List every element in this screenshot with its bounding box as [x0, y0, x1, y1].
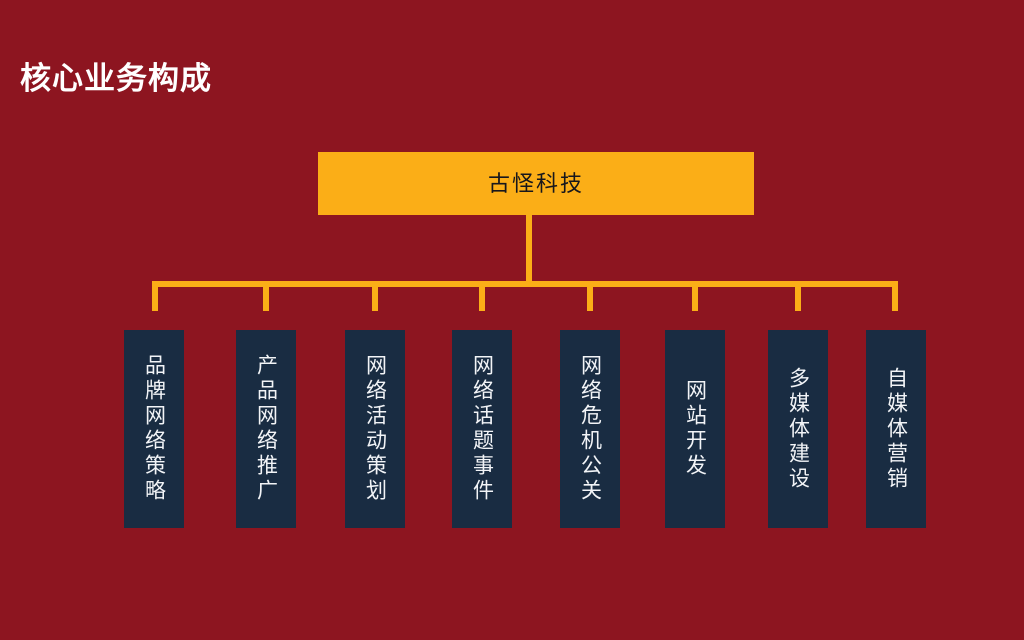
org-leaf-node-8[interactable]: 自媒体营销 — [866, 330, 926, 528]
org-leaf-node-label-3: 网络活动策划 — [365, 354, 386, 504]
org-leaf-node-6[interactable]: 网站开发 — [665, 330, 725, 528]
org-leaf-node-2[interactable]: 产品网络推广 — [236, 330, 296, 528]
connector-drop-8 — [892, 281, 898, 311]
connector-drop-2 — [263, 281, 269, 311]
connector-drop-7 — [795, 281, 801, 311]
connector-drop-5 — [587, 281, 593, 311]
org-leaf-node-4[interactable]: 网络话题事件 — [452, 330, 512, 528]
org-leaf-node-label-2: 产品网络推广 — [256, 354, 277, 504]
connector-drop-3 — [372, 281, 378, 311]
connector-trunk-vertical — [526, 215, 532, 281]
org-leaf-node-label-8: 自媒体营销 — [886, 367, 907, 492]
org-leaf-node-1[interactable]: 品牌网络策略 — [124, 330, 184, 528]
org-leaf-node-label-4: 网络话题事件 — [472, 354, 493, 504]
page-title: 核心业务构成 — [20, 62, 212, 96]
org-leaf-node-label-7: 多媒体建设 — [788, 367, 809, 492]
connector-drop-6 — [692, 281, 698, 311]
connector-drop-4 — [479, 281, 485, 311]
org-root-node-label: 古怪科技 — [488, 173, 584, 195]
slide-canvas: 核心业务构成 古怪科技 品牌网络策略 产品网络推广 网络活动策划 网络话题事件 … — [0, 0, 1024, 640]
org-leaf-node-7[interactable]: 多媒体建设 — [768, 330, 828, 528]
org-leaf-node-label-1: 品牌网络策略 — [144, 354, 165, 504]
org-root-node[interactable]: 古怪科技 — [318, 152, 754, 215]
org-leaf-node-label-5: 网络危机公关 — [580, 354, 601, 504]
org-leaf-node-5[interactable]: 网络危机公关 — [560, 330, 620, 528]
org-leaf-node-3[interactable]: 网络活动策划 — [345, 330, 405, 528]
connector-drop-1 — [152, 281, 158, 311]
org-leaf-node-label-6: 网站开发 — [685, 379, 706, 479]
